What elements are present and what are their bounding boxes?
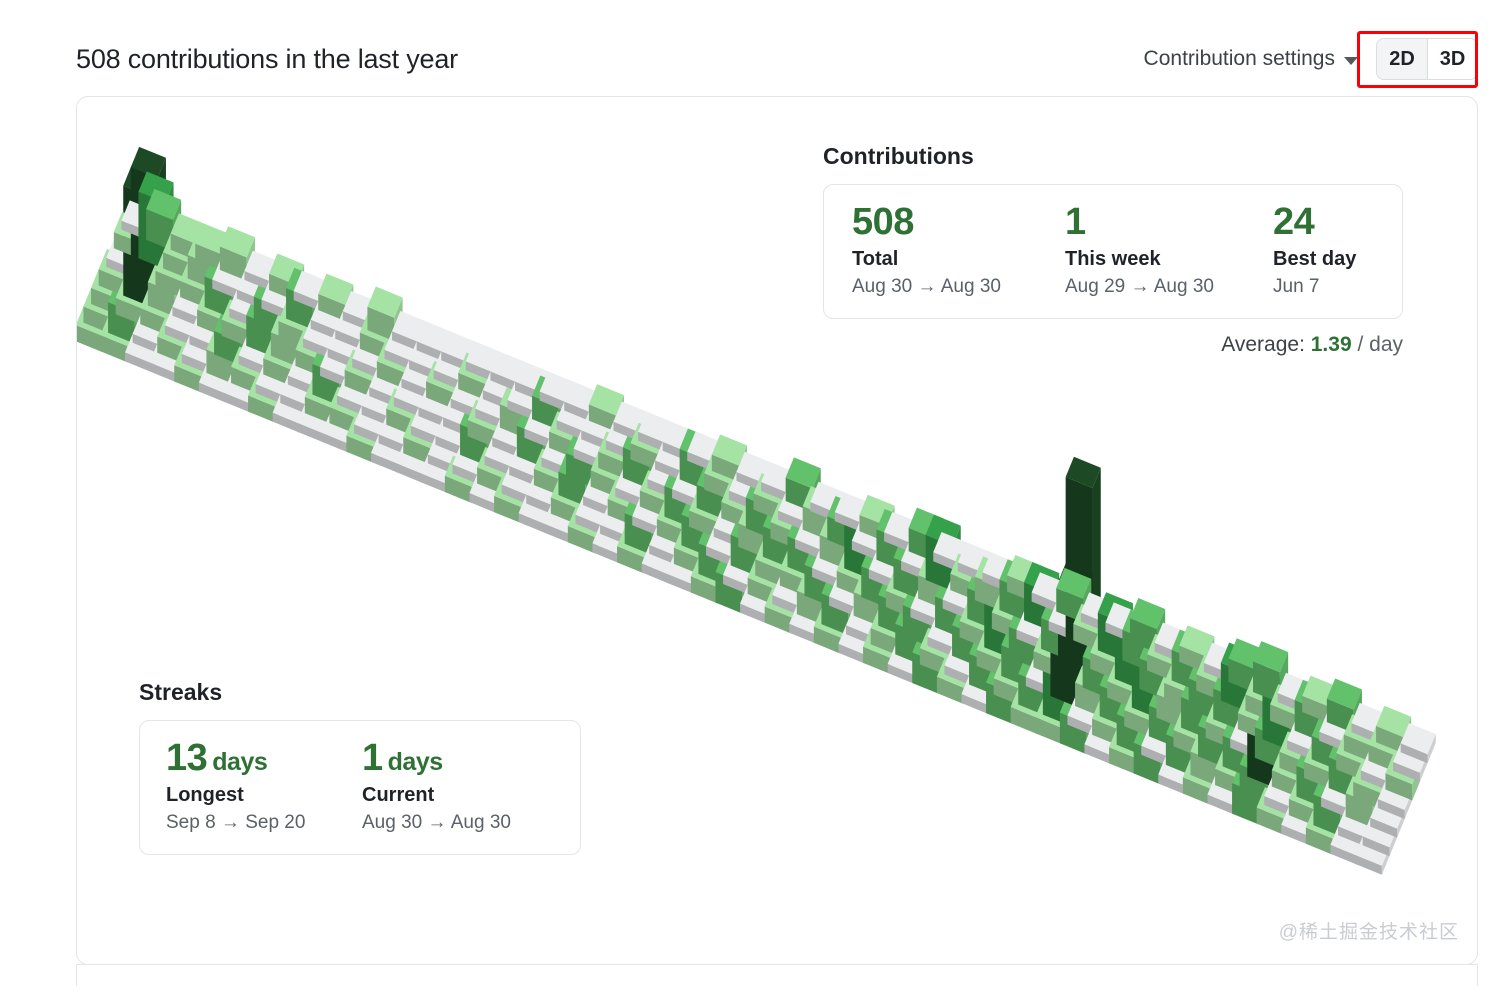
streak-current-range: Aug 30 → Aug 30 [362,812,511,834]
stat-this-week-value: 1 [1065,201,1273,244]
stat-this-week: 1 This week Aug 29 → Aug 30 [1065,201,1273,298]
stat-this-week-label: This week [1065,248,1273,271]
streak-longest-unit: days [212,748,267,776]
page-title: 508 contributions in the last year [76,44,458,75]
stat-best-day-range: Jun 7 [1273,276,1356,298]
stat-best-day-label: Best day [1273,248,1356,271]
panel-footer-area [76,965,1478,986]
contributions-block: Contributions 508 Total Aug 30 → Aug 30 … [823,143,1403,357]
streak-current-value: 1 [362,737,383,779]
streak-longest-range: Sep 8 → Sep 20 [166,812,362,834]
streaks-heading: Streaks [139,679,589,706]
streak-current: 1days Current Aug 30 → Aug 30 [362,737,511,834]
streak-current-unit: days [388,748,443,776]
header-controls: Contribution settings 2D 3D [1144,38,1478,80]
average-value: 1.39 [1311,333,1352,356]
average-per-day: Average: 1.39 / day [823,333,1403,357]
stat-total-value: 508 [852,201,1065,244]
streak-longest-value-wrap: 13days [166,737,362,780]
streak-longest: 13days Longest Sep 8 → Sep 20 [166,737,362,834]
stat-total-label: Total [852,248,1065,271]
streaks-block: Streaks 13days Longest Sep 8 → Sep 20 1d… [139,679,589,855]
streak-longest-label: Longest [166,784,362,807]
average-prefix: Average: [1221,333,1305,356]
contribution-settings-label: Contribution settings [1144,47,1335,71]
streak-current-value-wrap: 1days [362,737,511,780]
streak-current-label: Current [362,784,511,807]
dimension-toggle[interactable]: 2D 3D [1376,38,1478,80]
stat-this-week-range: Aug 29 → Aug 30 [1065,276,1273,298]
stat-total: 508 Total Aug 30 → Aug 30 [852,201,1065,298]
streak-longest-value: 13 [166,737,207,779]
contribution-settings-button[interactable]: Contribution settings [1144,47,1376,71]
streaks-stats-card: 13days Longest Sep 8 → Sep 20 1days Curr… [139,720,581,855]
contributions-stats-card: 508 Total Aug 30 → Aug 30 1 This week Au… [823,184,1403,319]
toggle-3d-button[interactable]: 3D [1427,39,1477,79]
average-suffix: / day [1357,333,1403,356]
stat-total-range: Aug 30 → Aug 30 [852,276,1065,298]
toggle-2d-button[interactable]: 2D [1377,39,1427,79]
page-header: 508 contributions in the last year Contr… [76,30,1478,88]
contribution-graph-panel: Contributions 508 Total Aug 30 → Aug 30 … [76,96,1478,965]
chevron-down-icon [1344,57,1358,65]
stat-best-day: 24 Best day Jun 7 [1273,201,1356,298]
contributions-heading: Contributions [823,143,1403,170]
stat-best-day-value: 24 [1273,201,1356,244]
watermark: @稀土掘金技术社区 [1279,917,1459,944]
